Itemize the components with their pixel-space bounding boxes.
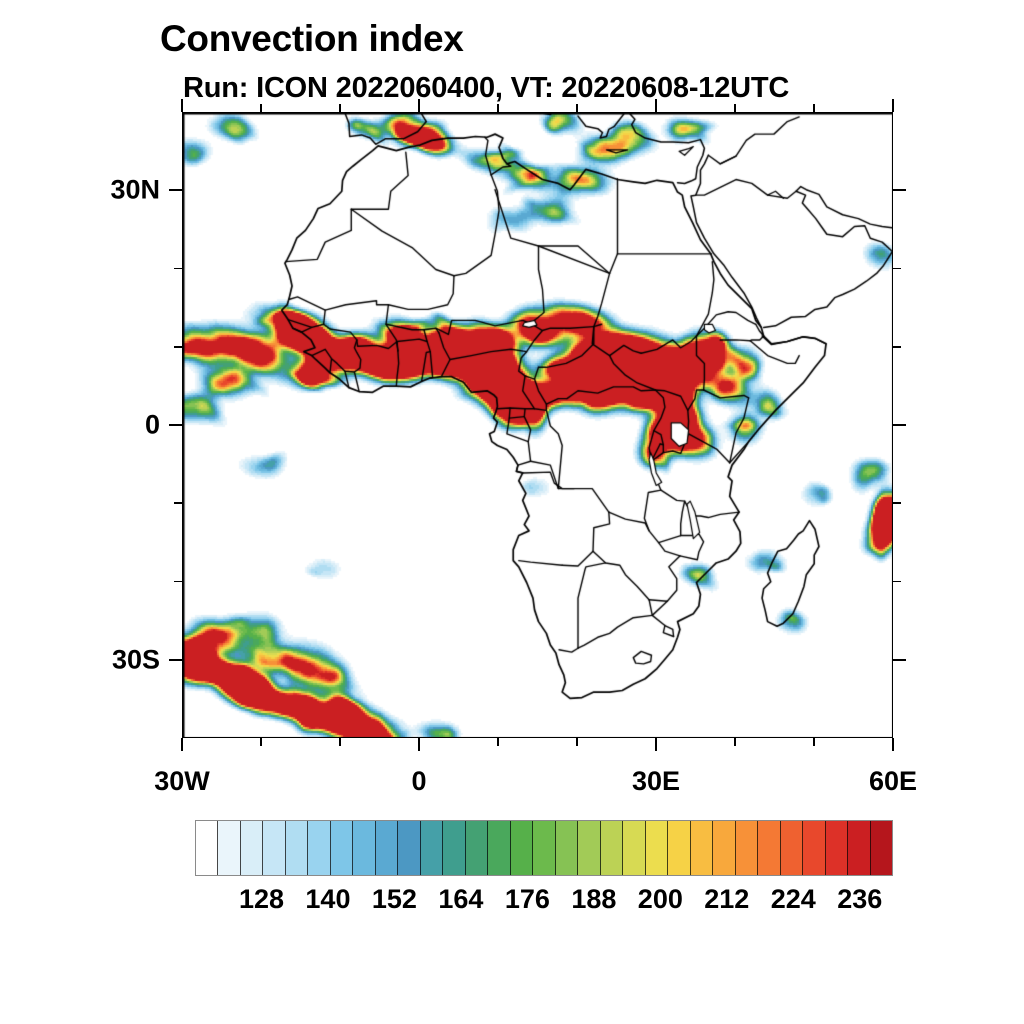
- colorbar-cell: [646, 821, 668, 875]
- colorbar-tick-label: 188: [571, 884, 616, 915]
- colorbar-cell: [286, 821, 308, 875]
- colorbar-cell: [196, 821, 218, 875]
- colorbar-tick-label: 140: [305, 884, 350, 915]
- x-tick-top: [181, 99, 183, 112]
- colorbar-cell: [848, 821, 870, 875]
- y-tick-right: [893, 502, 901, 504]
- x-tick: [576, 738, 578, 746]
- colorbar-cell: [466, 821, 488, 875]
- y-tick: [169, 189, 182, 191]
- convection-index-heatmap: [183, 113, 893, 738]
- x-tick: [339, 738, 341, 746]
- colorbar-cell: [803, 821, 825, 875]
- x-tick-top: [576, 104, 578, 112]
- figure: Convection index Run: ICON 2022060400, V…: [0, 0, 1024, 1024]
- colorbar-cell: [691, 821, 713, 875]
- x-axis-label: 30W: [154, 766, 210, 797]
- colorbar-cell: [218, 821, 240, 875]
- colorbar-tick-label: 224: [771, 884, 816, 915]
- y-tick: [174, 346, 182, 348]
- y-tick-right: [893, 346, 901, 348]
- colorbar-tick-label: 236: [837, 884, 882, 915]
- y-tick: [174, 581, 182, 583]
- x-tick-top: [497, 104, 499, 112]
- colorbar-cell: [556, 821, 578, 875]
- x-tick-top: [260, 104, 262, 112]
- x-tick-top: [655, 99, 657, 112]
- colorbar-cell: [376, 821, 398, 875]
- colorbar-cell: [533, 821, 555, 875]
- x-tick: [260, 738, 262, 746]
- colorbar-cell: [758, 821, 780, 875]
- colorbar-cell: [488, 821, 510, 875]
- y-tick-right: [893, 424, 906, 426]
- colorbar-cell: [826, 821, 848, 875]
- colorbar-cell: [871, 821, 892, 875]
- x-tick-top: [339, 104, 341, 112]
- x-tick: [181, 738, 183, 751]
- colorbar-cell: [713, 821, 735, 875]
- colorbar-cell: [511, 821, 533, 875]
- colorbar-tick-label: 200: [638, 884, 683, 915]
- x-tick-top: [813, 104, 815, 112]
- x-tick-top: [892, 99, 894, 112]
- x-tick-top: [418, 99, 420, 112]
- colorbar-tick-label: 176: [505, 884, 550, 915]
- y-tick: [174, 268, 182, 270]
- colorbar-cell: [263, 821, 285, 875]
- colorbar-tick-label: 212: [704, 884, 749, 915]
- y-tick: [169, 424, 182, 426]
- colorbar-cell: [601, 821, 623, 875]
- x-axis-label: 0: [411, 766, 426, 797]
- colorbar-cell: [781, 821, 803, 875]
- y-tick-right: [893, 659, 906, 661]
- x-tick: [813, 738, 815, 746]
- y-tick-right: [893, 268, 901, 270]
- colorbar: [195, 820, 893, 876]
- colorbar-cell: [443, 821, 465, 875]
- colorbar-cell: [241, 821, 263, 875]
- run-valid-time-subtitle: Run: ICON 2022060400, VT: 20220608-12UTC: [183, 72, 789, 105]
- y-tick: [169, 659, 182, 661]
- x-tick-top: [734, 104, 736, 112]
- colorbar-cell: [331, 821, 353, 875]
- y-axis-label: 30S: [112, 644, 160, 675]
- colorbar-cell: [353, 821, 375, 875]
- colorbar-cell: [736, 821, 758, 875]
- colorbar-cell: [308, 821, 330, 875]
- y-tick-right: [893, 189, 906, 191]
- colorbar-tick-label: 128: [239, 884, 284, 915]
- x-tick: [892, 738, 894, 751]
- colorbar-cell: [421, 821, 443, 875]
- x-tick: [418, 738, 420, 751]
- x-axis-label: 30E: [632, 766, 680, 797]
- colorbar-tick-label: 152: [372, 884, 417, 915]
- colorbar-cell: [578, 821, 600, 875]
- colorbar-tick-label: 164: [438, 884, 483, 915]
- colorbar-cell: [668, 821, 690, 875]
- map-plot-area: [182, 112, 893, 738]
- y-axis-label: 30N: [110, 175, 160, 206]
- x-axis-label: 60E: [869, 766, 917, 797]
- colorbar-cell: [623, 821, 645, 875]
- colorbar-cells: [195, 820, 893, 876]
- page-title: Convection index: [160, 18, 464, 60]
- x-tick: [734, 738, 736, 746]
- x-tick: [497, 738, 499, 746]
- colorbar-cell: [398, 821, 420, 875]
- y-axis-label: 0: [145, 410, 160, 441]
- x-tick: [655, 738, 657, 751]
- y-tick-right: [893, 581, 901, 583]
- y-tick: [174, 502, 182, 504]
